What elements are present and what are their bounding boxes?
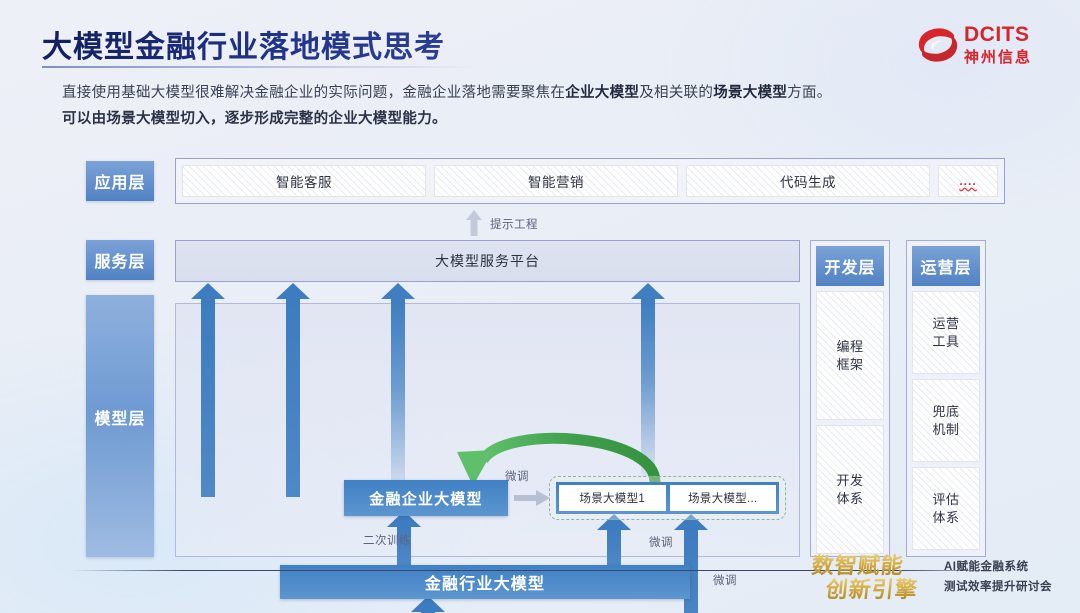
logo-chinese-text: 神州信息 [964, 46, 1032, 67]
ops-cell-fallback-mechanism[interactable]: 兜底 机制 [912, 379, 980, 462]
subtitle-seg-b: 企业大模型 [565, 85, 639, 101]
ops-cell-evaluation-system[interactable]: 评估 体系 [912, 467, 980, 550]
app-cell-smart-service[interactable]: 智能客服 [182, 165, 426, 197]
event-title: AI赋能金融系统 测试效率提升研讨会 [944, 558, 1052, 597]
subtitle-line-2: 可以由场景大模型切入，逐步形成完整的企业大模型能力。 [62, 107, 447, 128]
retrain-label-1: 二次训练 [363, 532, 411, 548]
company-logo: DCITS 神州信息 [918, 22, 1058, 70]
subtitle-seg-e: 方面。 [787, 85, 831, 101]
dev-cell-programming-framework[interactable]: 编程 框架 [816, 291, 884, 420]
subtitle-line-1: 直接使用基础大模型很难解决金融企业的实际问题，金融企业落地需要聚焦在企业大模型及… [62, 81, 832, 102]
app-cell-smart-marketing[interactable]: 智能营销 [434, 165, 678, 197]
ops-cell-operation-tools[interactable]: 运营 工具 [912, 291, 980, 374]
scene-model-more[interactable]: 场景大模型... [670, 485, 777, 511]
event-brand-logo: 数智赋能 创新引擎 [812, 548, 932, 604]
architecture-diagram: 应用层 服务层 模型层 智能客服 智能营销 代码生成 .... 提示工程 大模型… [0, 140, 1080, 570]
development-layer-column: 开发层 编程 框架 开发 体系 [810, 240, 890, 557]
enterprise-to-scene-arrow-icon [514, 490, 550, 506]
service-platform-box[interactable]: 大模型服务平台 [175, 240, 800, 282]
event-title-line-2: 测试效率提升研讨会 [944, 578, 1052, 598]
layer-tab-model[interactable]: 模型层 [86, 295, 154, 557]
operations-layer-title: 运营层 [912, 246, 980, 286]
logo-english-text: DCITS [964, 23, 1030, 47]
dcits-swirl-icon [918, 26, 958, 64]
app-cell-code-generation[interactable]: 代码生成 [686, 165, 930, 197]
prompt-engineering-arrow-icon [466, 210, 482, 236]
app-cell-more[interactable]: .... [938, 165, 998, 197]
finetune-label-1: 微调 [505, 468, 529, 484]
finetune-label-3: 微调 [713, 572, 737, 588]
event-title-line-1: AI赋能金融系统 [944, 558, 1052, 578]
development-layer-title: 开发层 [816, 246, 884, 286]
ellipsis-label: .... [959, 174, 976, 188]
brand-line-2: 创新引擎 [824, 572, 919, 604]
enterprise-model-block[interactable]: 金融企业大模型 [344, 480, 508, 516]
scene-model-1[interactable]: 场景大模型1 [559, 485, 666, 511]
application-layer-row: 智能客服 智能营销 代码生成 .... [175, 158, 1005, 204]
dev-cell-development-system[interactable]: 开发 体系 [816, 425, 884, 554]
layer-tab-service[interactable]: 服务层 [86, 240, 154, 280]
title-underline [42, 66, 482, 68]
operations-layer-column: 运营层 运营 工具 兜底 机制 评估 体系 [906, 240, 986, 557]
scene-model-group: 场景大模型1 场景大模型... [556, 482, 779, 514]
finetune-label-2: 微调 [649, 534, 673, 550]
subtitle-seg-c: 及相关联的 [639, 85, 713, 101]
prompt-engineering-label: 提示工程 [490, 216, 538, 232]
subtitle-seg-a: 直接使用基础大模型很难解决金融企业的实际问题，金融企业落地需要聚焦在 [62, 85, 565, 101]
subtitle-seg-d: 场景大模型 [713, 85, 787, 101]
layer-tab-application[interactable]: 应用层 [86, 161, 154, 201]
page-title: 大模型金融行业落地模式思考 [42, 22, 445, 66]
slide-header: 大模型金融行业落地模式思考 直接使用基础大模型很难解决金融企业的实际问题，金融企… [0, 0, 1080, 140]
